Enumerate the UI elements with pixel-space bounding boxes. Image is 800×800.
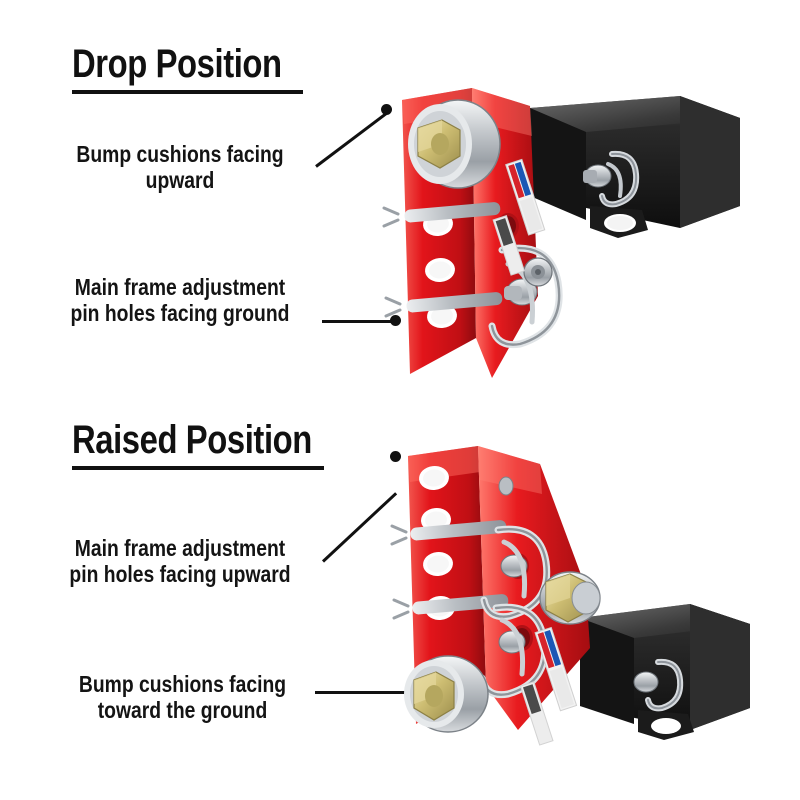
section-title-raised: Raised Position (72, 420, 312, 460)
section-title-underline-drop (72, 90, 303, 94)
callout-line: pin holes facing upward (58, 562, 302, 588)
callout-line: Main frame adjustment (58, 275, 302, 301)
black-receiver-tube-raised (580, 604, 750, 740)
bump-cushion-cylinder-drop (408, 100, 500, 188)
pivot-bolt-drop (524, 258, 552, 286)
leader-line-raised-pinholes (322, 492, 397, 562)
callout-line: pin holes facing ground (58, 301, 302, 327)
product-image-drop-position (380, 78, 750, 388)
section-raised-position: Raised Position Main frame adjustment pi… (0, 400, 800, 800)
hitch-illustration-drop (380, 78, 750, 388)
leader-line-drop-cushions (315, 112, 387, 167)
section-title-underline-raised (72, 466, 324, 470)
pivot-bolt-raised (540, 572, 600, 624)
callout-line: toward the ground (59, 698, 307, 724)
callout-line: upward (62, 168, 297, 194)
callout-text-drop-cushions: Bump cushions facing upward (62, 142, 297, 194)
callout-text-drop-pinholes: Main frame adjustment pin holes facing g… (58, 275, 302, 327)
callout-line: Bump cushions facing (59, 672, 307, 698)
hitch-illustration-raised (390, 438, 760, 758)
callout-line: Main frame adjustment (58, 536, 302, 562)
infographic-page: Drop Position Bump cushions facing upwar… (0, 0, 800, 800)
product-image-raised-position (390, 438, 760, 758)
section-title-drop: Drop Position (72, 44, 282, 84)
callout-line: Bump cushions facing (62, 142, 297, 168)
section-drop-position: Drop Position Bump cushions facing upwar… (0, 0, 800, 400)
callout-text-raised-cushions: Bump cushions facing toward the ground (59, 672, 307, 724)
bump-cushion-cylinder-raised (404, 656, 488, 732)
callout-text-raised-pinholes: Main frame adjustment pin holes facing u… (58, 536, 302, 588)
